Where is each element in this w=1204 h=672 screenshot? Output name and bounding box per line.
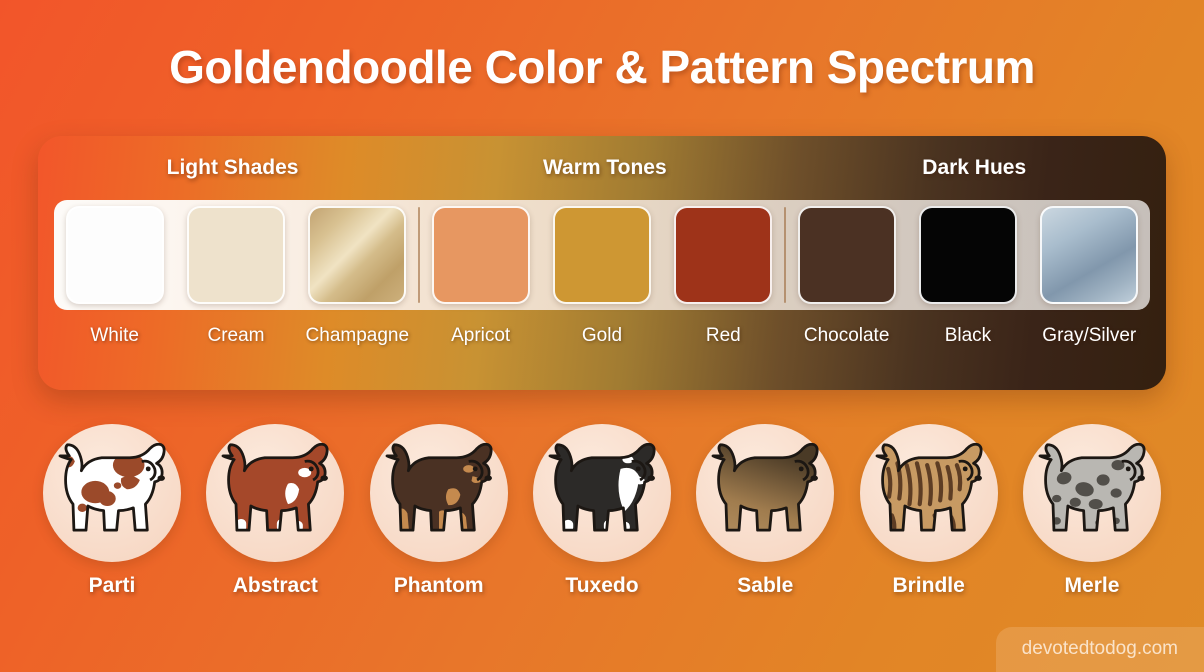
dog-sable-icon (709, 441, 821, 545)
swatch-cell-cream[interactable] (175, 206, 296, 304)
swatch-cell-champagne[interactable] (297, 206, 418, 304)
swatch-label-gray-silver: Gray/Silver (1029, 325, 1150, 347)
dog-abstract-icon (219, 441, 331, 545)
page-title: Goldendoodle Color & Pattern Spectrum (0, 40, 1204, 94)
pattern-circle-phantom[interactable] (370, 424, 508, 562)
pattern-item-abstract[interactable]: Abstract (201, 424, 349, 609)
color-swatch-gray-silver[interactable] (1040, 206, 1138, 304)
swatch-cell-red[interactable] (663, 206, 784, 304)
swatch-label-red: Red (663, 325, 784, 347)
pattern-label-merle: Merle (1065, 574, 1120, 598)
pattern-circle-abstract[interactable] (206, 424, 344, 562)
swatch-cell-gray-silver[interactable] (1029, 206, 1150, 304)
pattern-item-phantom[interactable]: Phantom (365, 424, 513, 609)
spectrum-section-headers: Light Shades Warm Tones Dark Hues (38, 136, 1166, 200)
pattern-label-sable: Sable (737, 574, 793, 598)
swatch-label-gold: Gold (541, 325, 662, 347)
dog-tuxedo-icon (546, 441, 658, 545)
pattern-item-merle[interactable]: Merle (1018, 424, 1166, 609)
swatch-label-chocolate: Chocolate (786, 325, 907, 347)
color-swatch-labels: WhiteCreamChampagneApricotGoldRedChocola… (54, 316, 1150, 356)
color-swatch-gold[interactable] (553, 206, 651, 304)
color-swatch-black[interactable] (919, 206, 1017, 304)
pattern-item-parti[interactable]: Parti (38, 424, 186, 609)
swatch-label-white: White (54, 325, 175, 347)
pattern-circle-tuxedo[interactable] (533, 424, 671, 562)
dog-brindle-icon (873, 441, 985, 545)
pattern-item-brindle[interactable]: Brindle (855, 424, 1003, 609)
color-swatch-white[interactable] (66, 206, 164, 304)
pattern-item-tuxedo[interactable]: Tuxedo (528, 424, 676, 609)
section-header-light-shades: Light Shades (38, 156, 427, 180)
color-swatch-red[interactable] (674, 206, 772, 304)
pattern-circle-brindle[interactable] (860, 424, 998, 562)
swatch-cell-black[interactable] (907, 206, 1028, 304)
color-swatch-apricot[interactable] (432, 206, 530, 304)
dog-merle-icon (1036, 441, 1148, 545)
pattern-label-tuxedo: Tuxedo (565, 574, 638, 598)
pattern-label-abstract: Abstract (233, 574, 318, 598)
color-swatch-champagne[interactable] (308, 206, 406, 304)
swatch-label-cream: Cream (175, 325, 296, 347)
swatch-label-champagne: Champagne (297, 325, 418, 347)
color-swatch-strip (54, 200, 1150, 310)
pattern-label-parti: Parti (89, 574, 136, 598)
swatch-label-apricot: Apricot (420, 325, 541, 347)
pattern-circle-parti[interactable] (43, 424, 181, 562)
color-spectrum-panel: Light Shades Warm Tones Dark Hues WhiteC… (38, 136, 1166, 390)
swatch-label-black: Black (907, 325, 1028, 347)
color-swatch-chocolate[interactable] (798, 206, 896, 304)
swatch-cell-white[interactable] (54, 206, 175, 304)
dog-parti-icon (56, 441, 168, 545)
swatch-cell-gold[interactable] (541, 206, 662, 304)
color-swatch-cream[interactable] (187, 206, 285, 304)
pattern-gallery: Parti Abstract (38, 424, 1166, 609)
swatch-cell-apricot[interactable] (420, 206, 541, 304)
dog-phantom-icon (383, 441, 495, 545)
pattern-circle-merle[interactable] (1023, 424, 1161, 562)
pattern-label-phantom: Phantom (394, 574, 484, 598)
pattern-label-brindle: Brindle (892, 574, 964, 598)
swatch-cell-chocolate[interactable] (786, 206, 907, 304)
pattern-circle-sable[interactable] (696, 424, 834, 562)
section-header-dark-hues: Dark Hues (782, 156, 1166, 180)
site-watermark: devotedtodog.com (996, 627, 1204, 672)
pattern-item-sable[interactable]: Sable (691, 424, 839, 609)
section-header-warm-tones: Warm Tones (427, 156, 782, 180)
